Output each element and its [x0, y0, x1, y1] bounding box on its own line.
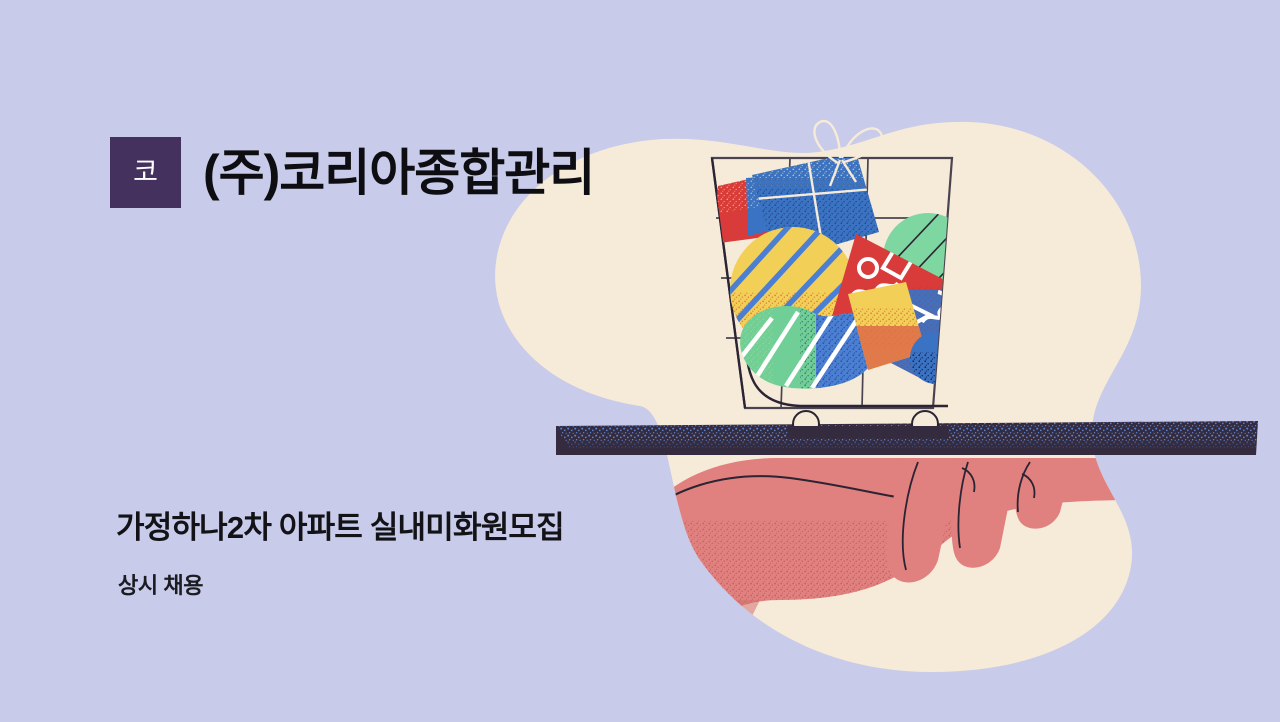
- job-subtitle: 상시 채용: [118, 574, 203, 598]
- company-name: (주)코리아종합관리: [203, 148, 594, 198]
- company-header: 코 (주)코리아종합관리: [110, 137, 594, 208]
- job-posting-banner: 코 (주)코리아종합관리 가정하나2차 아파트 실내미화원모집 상시 채용: [0, 0, 1280, 722]
- job-title: 가정하나2차 아파트 실내미화원모집: [116, 511, 564, 545]
- company-logo-badge: 코: [110, 137, 181, 208]
- hand-holding-shopping-cart-illustration: [0, 0, 1280, 722]
